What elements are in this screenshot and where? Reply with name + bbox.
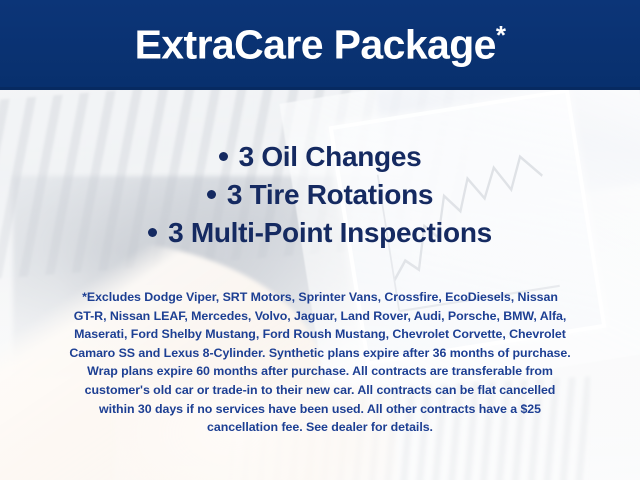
- disclaimer-line: Maserati, Ford Shelby Mustang, Ford Rous…: [26, 325, 614, 344]
- benefit-label: 3 Oil Changes: [239, 141, 422, 172]
- disclaimer-line: Wrap plans expire 60 months after purcha…: [26, 362, 614, 381]
- benefit-label: 3 Tire Rotations: [227, 179, 433, 210]
- disclaimer-line: *Excludes Dodge Viper, SRT Motors, Sprin…: [26, 288, 614, 307]
- disclaimer-line: GT-R, Nissan LEAF, Mercedes, Volvo, Jagu…: [26, 307, 614, 326]
- bullet-dot-icon: [207, 190, 216, 199]
- disclaimer-line: cancellation fee. See dealer for details…: [26, 418, 614, 437]
- list-item: 3 Oil Changes: [0, 138, 640, 176]
- header-band: ExtraCare Package*: [0, 0, 640, 90]
- bullet-dot-icon: [219, 152, 228, 161]
- disclaimer-line: within 30 days if no services have been …: [26, 400, 614, 419]
- benefit-label: 3 Multi-Point Inspections: [168, 217, 492, 248]
- benefits-list: 3 Oil Changes 3 Tire Rotations 3 Multi-P…: [0, 138, 640, 252]
- disclaimer-line: customer's old car or trade-in to their …: [26, 381, 614, 400]
- page-title-asterisk: *: [496, 20, 506, 50]
- list-item: 3 Tire Rotations: [0, 176, 640, 214]
- bullet-dot-icon: [148, 228, 157, 237]
- extracare-package-promo-card: ExtraCare Package* 3 Oil Changes 3 Tire …: [0, 0, 640, 480]
- disclaimer-line: Camaro SS and Lexus 8-Cylinder. Syntheti…: [26, 344, 614, 363]
- page-title: ExtraCare Package*: [135, 22, 506, 66]
- page-title-text: ExtraCare Package: [135, 22, 496, 68]
- disclaimer-block: *Excludes Dodge Viper, SRT Motors, Sprin…: [26, 288, 614, 437]
- list-item: 3 Multi-Point Inspections: [0, 214, 640, 252]
